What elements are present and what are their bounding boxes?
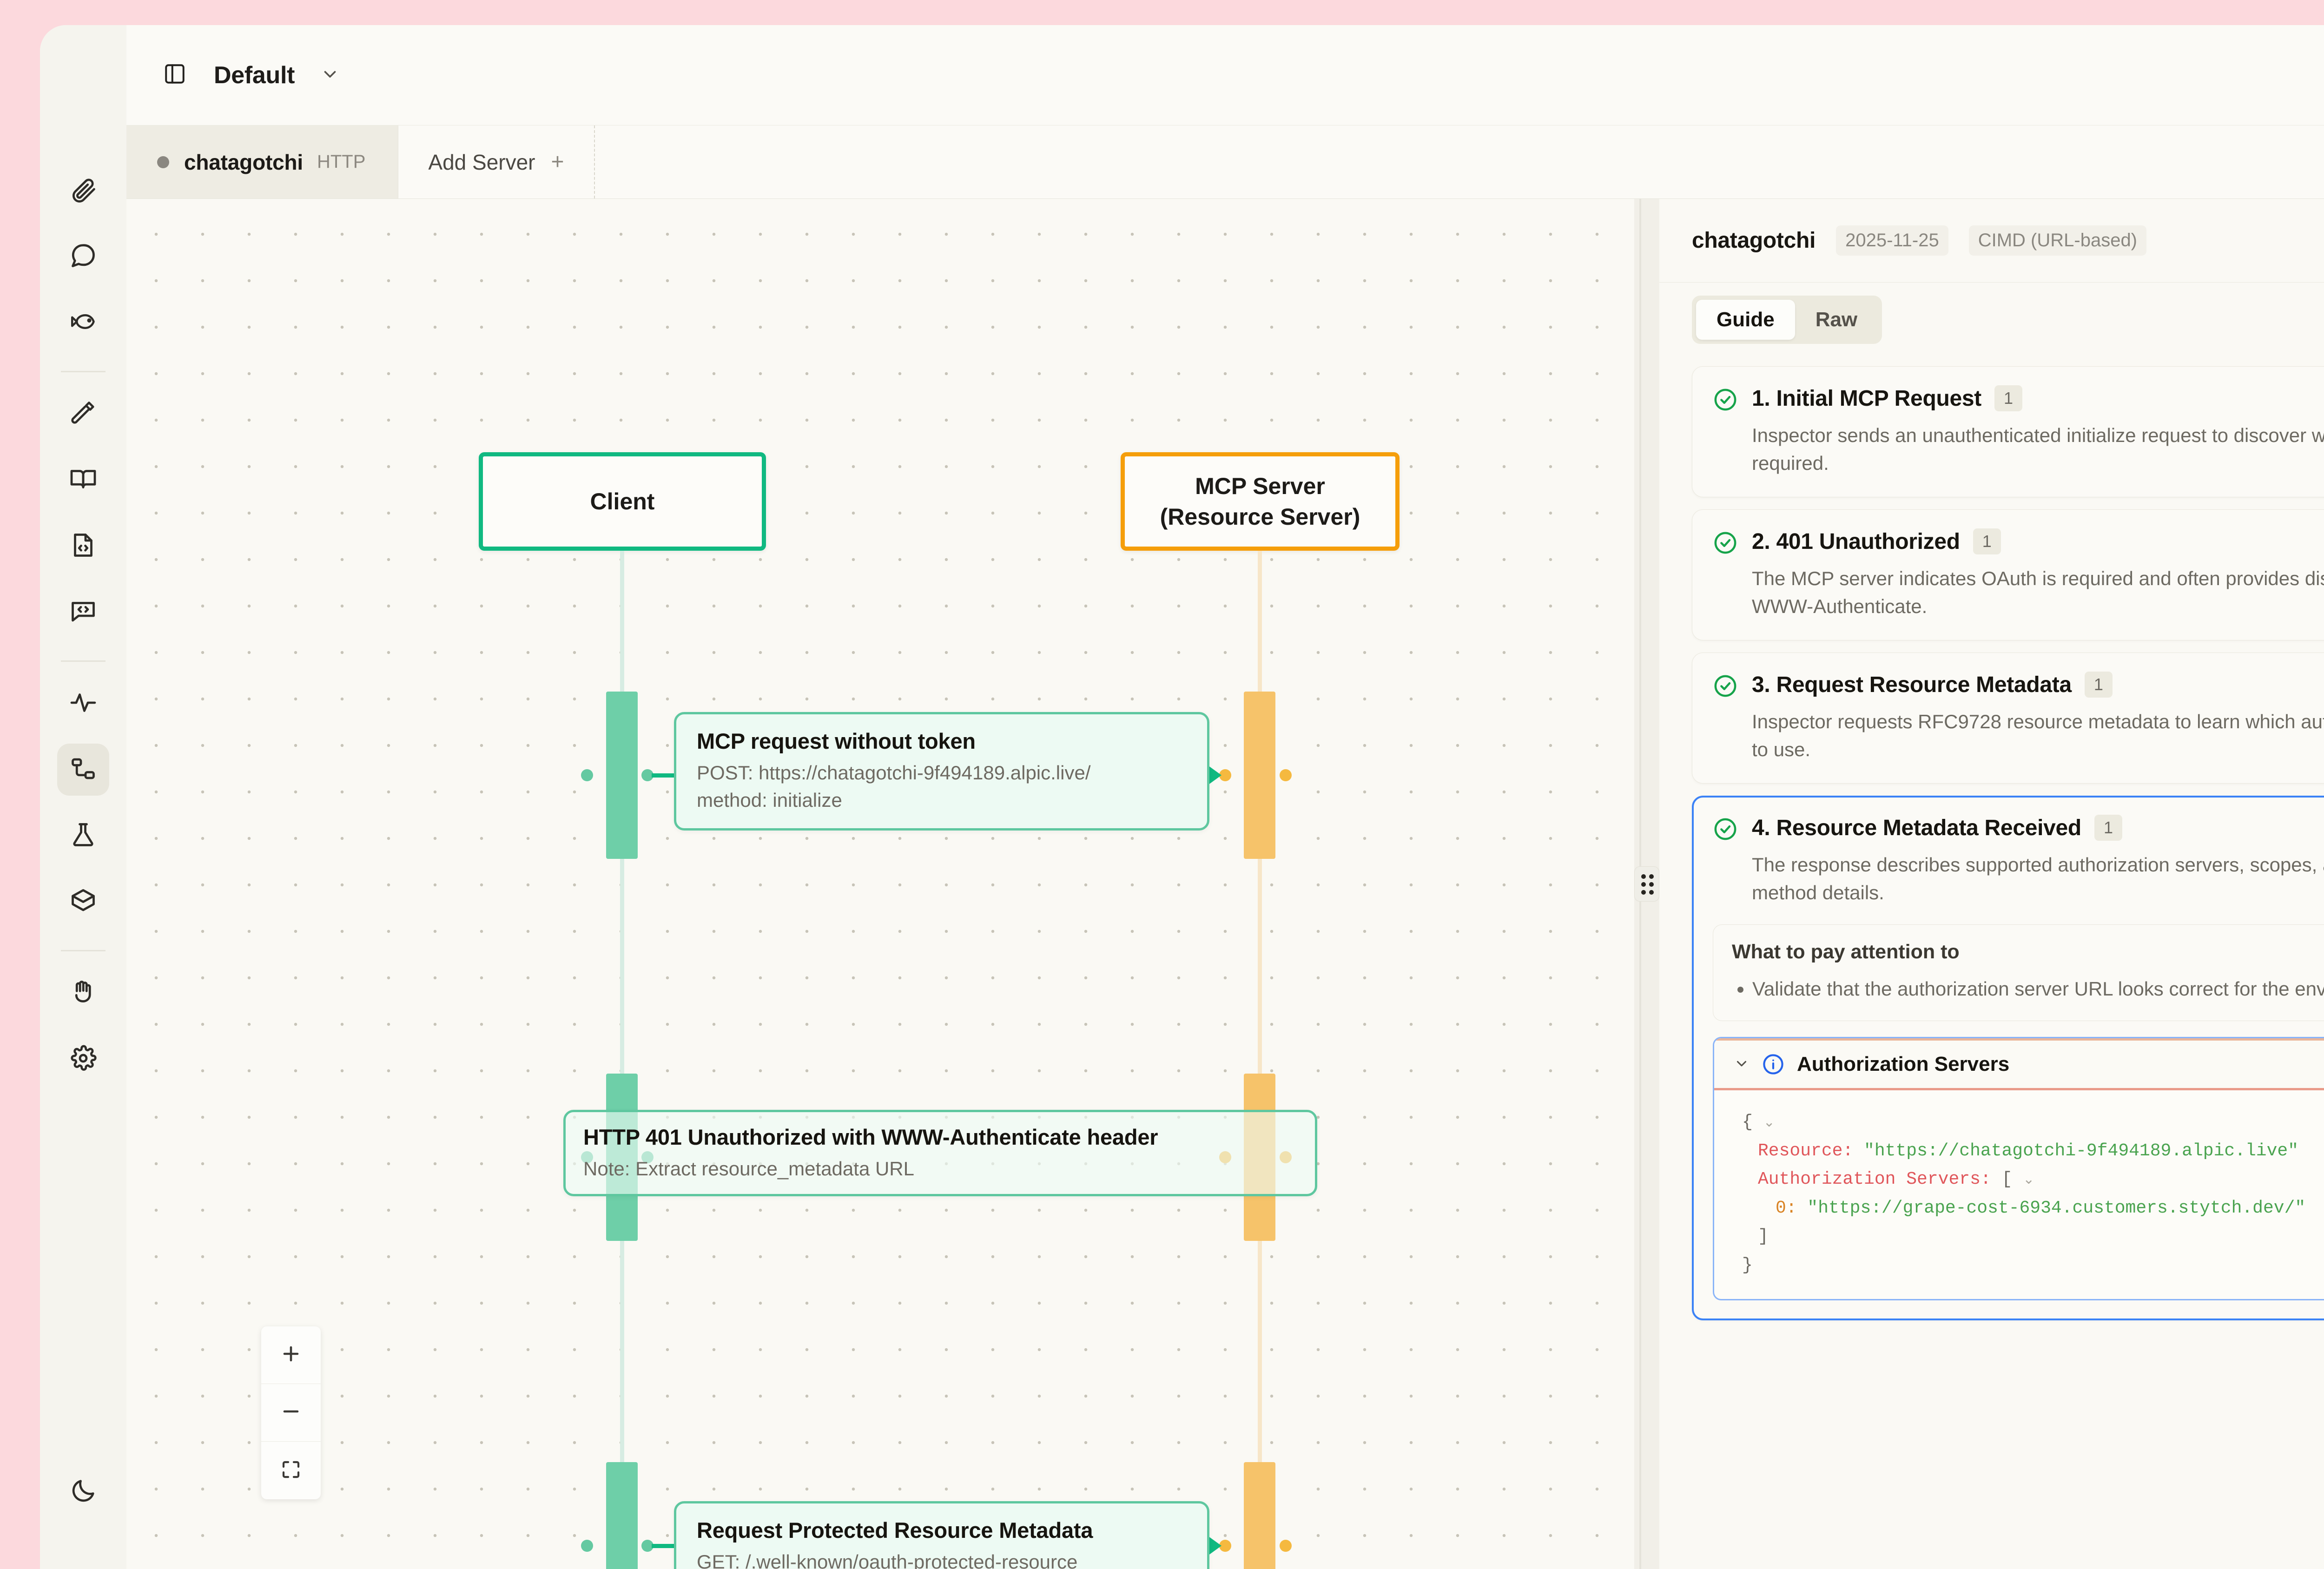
check-circle-icon [1713, 673, 1738, 699]
json-close-brace: } [1742, 1255, 1753, 1275]
activation-client-1 [606, 692, 638, 859]
tab-guide[interactable]: Guide [1696, 300, 1795, 340]
anchor-client-left-3 [581, 1540, 593, 1552]
log-entry-block[interactable]: Authorization Servers 12:39:32 PM { ⌄ Re… [1713, 1037, 2324, 1300]
attention-bullet: Validate that the authorization server U… [1752, 976, 2324, 1003]
json-array-collapse-toggle[interactable]: ⌄ [2023, 1173, 2034, 1188]
panel-title: chatagotchi [1692, 228, 1816, 253]
sidebar-item-auth-flow[interactable] [57, 744, 109, 796]
attention-list: Validate that the authorization server U… [1752, 976, 2324, 1003]
rail-divider [61, 371, 106, 372]
message-box-3[interactable]: Request Protected Resource Metadata GET:… [674, 1501, 1209, 1569]
splitter-grip-handle[interactable] [1634, 866, 1659, 902]
rail-divider-2 [61, 660, 106, 662]
diagram-node-server[interactable]: MCP Server (Resource Server) [1121, 452, 1400, 551]
tab-server-chatagotchi[interactable]: chatagotchi HTTP [126, 125, 398, 198]
step-title: 2. 401 Unauthorized [1752, 529, 1960, 554]
step-card-1[interactable]: 1. Initial MCP Request 1 Inspector sends… [1692, 366, 2324, 497]
flow-nodes-icon [69, 755, 97, 785]
panel-header: chatagotchi 2025-11-25 CIMD (URL-based) … [1659, 199, 2324, 283]
chevron-down-icon [320, 64, 340, 86]
step-title: 4. Resource Metadata Received [1752, 815, 2081, 841]
step-card-2[interactable]: 2. 401 Unauthorized 1 The MCP server ind… [1692, 509, 2324, 640]
hand-icon [69, 978, 97, 1009]
zoom-in-button[interactable] [261, 1326, 321, 1384]
message-box-1[interactable]: MCP request without token POST: https://… [674, 712, 1209, 831]
message-title: MCP request without token [697, 727, 1187, 755]
box-icon [69, 887, 97, 917]
chat-bubble-icon [69, 242, 97, 272]
attention-heading: What to pay attention to [1732, 941, 2324, 963]
chevron-down-icon [1734, 1055, 1750, 1074]
tab-strip-filler [595, 125, 2324, 198]
workspace-name[interactable]: Default [214, 61, 295, 89]
left-rail [40, 25, 126, 1569]
diagram-node-client-label: Client [590, 486, 655, 517]
add-server-label: Add Server [428, 150, 535, 175]
fish-icon [69, 308, 97, 338]
plus-icon: + [551, 151, 564, 173]
json-key-resource: Resource: [1758, 1141, 1853, 1161]
sidebar-item-elicitation[interactable] [57, 967, 109, 1019]
json-open-brace: { [1742, 1112, 1753, 1132]
file-code-icon [69, 531, 97, 561]
check-circle-icon [1713, 387, 1738, 412]
message-subtitle-line-2: method: initialize [697, 787, 1187, 814]
json-close-bracket: ] [1758, 1226, 1769, 1246]
rail-divider-3 [61, 950, 106, 951]
sidebar-item-fish[interactable] [57, 297, 109, 349]
step-count-badge: 1 [1973, 528, 2001, 554]
moon-icon [69, 1477, 97, 1507]
auth-flow-panel: chatagotchi 2025-11-25 CIMD (URL-based) … [1659, 199, 2324, 1569]
panel-left-icon [163, 62, 186, 88]
json-open-bracket: [ [2002, 1169, 2013, 1189]
json-array-index: 0: [1776, 1198, 1797, 1218]
app-window: Default chatagotchi HTTP [40, 25, 2324, 1569]
sidebar-item-packages[interactable] [57, 876, 109, 928]
log-entry-header[interactable]: Authorization Servers 12:39:32 PM [1714, 1038, 2324, 1090]
sidebar-item-activity[interactable] [57, 678, 109, 730]
json-key-authorization-servers: Authorization Servers: [1758, 1169, 1991, 1189]
anchor-server-right-3 [1280, 1540, 1292, 1552]
panel-chip-date: 2025-11-25 [1836, 225, 1948, 256]
step-title: 1. Initial MCP Request [1752, 386, 1981, 411]
log-collapse-button[interactable] [1731, 1054, 1752, 1075]
message-subtitle-line-1: GET: /.well-known/oauth-protected-resour… [697, 1549, 1187, 1569]
sidebar-item-resources[interactable] [57, 454, 109, 506]
hammer-icon [69, 399, 97, 429]
anchor-client-left-1 [581, 769, 593, 781]
step-card-3[interactable]: 3. Request Resource Metadata 1 Inspector… [1692, 653, 2324, 784]
fit-view-button[interactable] [261, 1442, 321, 1499]
diagram-node-client[interactable]: Client [479, 452, 766, 551]
panel-subheader: Guide Raw Copy logs [1659, 283, 2324, 357]
info-icon [1762, 1053, 1785, 1076]
status-dot [157, 156, 169, 168]
workspace-dropdown-button[interactable] [316, 61, 344, 89]
step-card-4[interactable]: 4. Resource Metadata Received 1 The resp… [1692, 796, 2324, 1320]
sidebar-item-experiments[interactable] [57, 810, 109, 862]
log-entry-name: Authorization Servers [1797, 1053, 2009, 1076]
minus-icon [280, 1400, 302, 1425]
anchor-server-right-1 [1280, 769, 1292, 781]
sidebar-item-settings[interactable] [57, 1033, 109, 1085]
add-server-button[interactable]: Add Server + [398, 125, 594, 198]
book-open-icon [69, 465, 97, 495]
attention-panel: What to pay attention to Validate that t… [1713, 924, 2324, 1021]
check-circle-icon [1713, 817, 1738, 842]
message-title: Request Protected Resource Metadata [697, 1516, 1187, 1544]
gear-icon [69, 1044, 97, 1075]
sidebar-item-tools[interactable] [57, 388, 109, 440]
check-circle-icon [1713, 530, 1738, 555]
activation-client-3 [606, 1462, 638, 1569]
view-mode-tabs: Guide Raw [1692, 296, 1882, 344]
main-area: Default chatagotchi HTTP [126, 25, 2324, 1569]
panel-toggle-button[interactable] [152, 53, 197, 98]
activity-icon [69, 689, 97, 719]
sidebar-item-file-code[interactable] [57, 520, 109, 572]
fit-view-icon [280, 1458, 302, 1483]
tab-server-name: chatagotchi [184, 150, 303, 175]
step-title: 3. Request Resource Metadata [1752, 672, 2072, 698]
step-description: The MCP server indicates OAuth is requir… [1752, 565, 2324, 620]
plus-icon [280, 1343, 302, 1367]
body-split: Client MCP Server (Resource Server) MCP … [126, 199, 2324, 1569]
tab-server-transport: HTTP [317, 152, 365, 172]
message-box-2[interactable]: HTTP 401 Unauthorized with WWW-Authentic… [563, 1110, 1317, 1196]
tab-raw[interactable]: Raw [1795, 300, 1878, 340]
step-count-badge: 1 [1994, 385, 2022, 411]
step-count-badge: 1 [2094, 815, 2122, 841]
step-description: Inspector sends an unauthenticated initi… [1752, 422, 2324, 477]
sequence-diagram-canvas[interactable]: Client MCP Server (Resource Server) MCP … [126, 199, 1634, 1569]
flask-icon [69, 821, 97, 851]
zoom-out-button[interactable] [261, 1384, 321, 1442]
activation-server-1 [1244, 692, 1275, 859]
panel-chip-mode: CIMD (URL-based) [1969, 225, 2146, 256]
message-title: HTTP 401 Unauthorized with WWW-Authentic… [583, 1123, 1297, 1151]
server-tab-strip: chatagotchi HTTP Add Server + [126, 125, 2324, 199]
json-collapse-toggle[interactable]: ⌄ [1763, 1115, 1775, 1131]
step-count-badge: 1 [2085, 672, 2113, 698]
sidebar-item-dark-mode[interactable] [57, 1466, 109, 1518]
step-description: Inspector requests RFC9728 resource meta… [1752, 708, 2324, 764]
panel-splitter[interactable] [1634, 199, 1659, 1569]
steps-list[interactable]: 1. Initial MCP Request 1 Inspector sends… [1659, 357, 2324, 1569]
step-description: The response describes supported authori… [1752, 851, 2324, 907]
message-subtitle-line-1: Note: Extract resource_metadata URL [583, 1155, 1297, 1183]
log-json-viewer[interactable]: { ⌄ Resource: "https://chatagotchi-9f494… [1714, 1090, 2324, 1299]
paperclip-icon [69, 176, 97, 206]
sidebar-item-attachments[interactable] [57, 165, 109, 217]
zoom-controls [261, 1326, 321, 1499]
json-value-resource: "https://chatagotchi-9f494189.alpic.live… [1864, 1141, 2298, 1161]
diagram-node-server-label: MCP Server (Resource Server) [1137, 471, 1383, 532]
activation-server-3 [1244, 1462, 1275, 1569]
message-subtitle-line-1: POST: https://chatagotchi-9f494189.alpic… [697, 759, 1187, 787]
sidebar-item-chat[interactable] [57, 231, 109, 283]
top-bar: Default [126, 25, 2324, 125]
message-code-icon [69, 597, 97, 627]
sidebar-item-prompts[interactable] [57, 586, 109, 638]
json-array-value: "https://grape-cost-6934.customers.stytc… [1807, 1198, 2305, 1218]
